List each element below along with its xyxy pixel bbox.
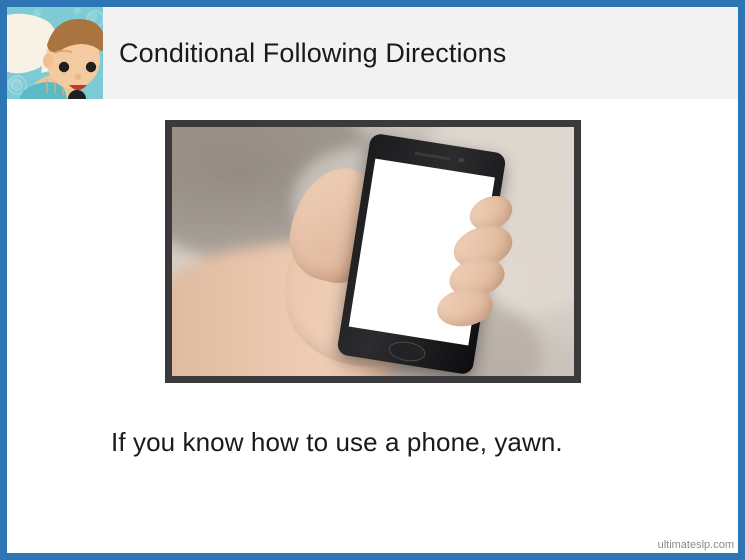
slide-header: Conditional Following Directions: [7, 7, 738, 99]
avatar: [7, 7, 103, 99]
watermark: ultimateslp.com: [658, 539, 734, 551]
phone-photo: [172, 127, 574, 376]
phone-home-button: [387, 339, 427, 364]
slide: Conditional Following Directions: [0, 0, 745, 560]
phone-camera: [458, 157, 465, 163]
speech-therapy-avatar-icon: [7, 7, 103, 99]
media-frame: [165, 120, 581, 383]
caption-text: If you know how to use a phone, yawn.: [111, 427, 671, 458]
page-title: Conditional Following Directions: [119, 7, 506, 99]
phone-speaker: [415, 151, 451, 160]
